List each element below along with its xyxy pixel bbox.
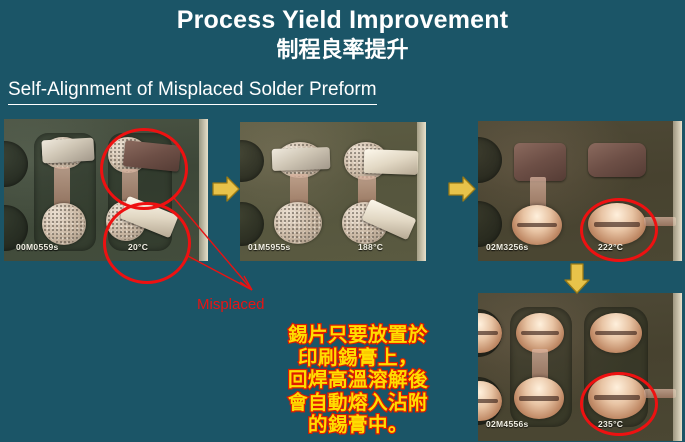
board-edge [417, 122, 426, 261]
solder-joint [516, 313, 564, 353]
panel-2-timestamp: 01M5955s [248, 242, 291, 252]
board-edge [199, 119, 208, 261]
photo-panel-1: 00M0559s 20°C [4, 119, 208, 261]
photo-panel-4: 02M4556s 235°C [478, 293, 682, 441]
solder-preform-misplaced [364, 149, 419, 175]
paste-bridge [54, 167, 70, 207]
panel-1-timestamp: 00M0559s [16, 242, 59, 252]
paste-bridge [644, 389, 676, 398]
panel-1-temperature: 20°C [128, 242, 148, 252]
solder-joint-self-aligned [588, 375, 646, 419]
solder-paste [42, 203, 86, 245]
panel-2-temperature: 188°C [358, 242, 383, 252]
solder-joint [590, 313, 642, 353]
solder-paste [274, 202, 322, 244]
slide-canvas: Process Yield Improvement 制程良率提升 Self-Al… [0, 0, 685, 442]
solder-preform [272, 147, 331, 171]
board-edge [673, 121, 682, 261]
solder-preform [41, 138, 94, 164]
page-title-chinese: 制程良率提升 [0, 37, 685, 63]
board-edge [673, 293, 682, 441]
reflowed-preform [514, 143, 566, 181]
solder-joint [512, 205, 562, 245]
panel-3-timestamp: 02M3256s [486, 242, 529, 252]
misplaced-annotation-label: Misplaced [197, 296, 265, 313]
panel-3-temperature: 222°C [598, 242, 623, 252]
chinese-callout-text: 錫片只要放置於 印刷錫膏上， 回焊高溫溶解後 會自動熔入沾附 的錫膏中。 [246, 324, 470, 437]
solder-joint-aligned [588, 203, 646, 245]
reflowed-preform [588, 143, 646, 177]
page-title: Process Yield Improvement [0, 5, 685, 35]
pcb-surface [478, 121, 682, 261]
arrow-right-icon-2 [449, 177, 475, 201]
paste-bridge [644, 217, 676, 226]
leader-arrowhead [240, 276, 252, 290]
photo-panel-2: 01M5955s 188°C [240, 122, 426, 261]
subtitle: Self-Alignment of Misplaced Solder Prefo… [8, 78, 377, 105]
solder-joint [514, 377, 564, 419]
arrow-down-icon [565, 264, 589, 293]
panel-4-temperature: 235°C [598, 419, 623, 429]
photo-panel-3: 02M3256s 222°C [478, 121, 682, 261]
pcb-surface [240, 122, 426, 261]
arrow-right-icon-1 [213, 177, 239, 201]
panel-4-timestamp: 02M4556s [486, 419, 529, 429]
